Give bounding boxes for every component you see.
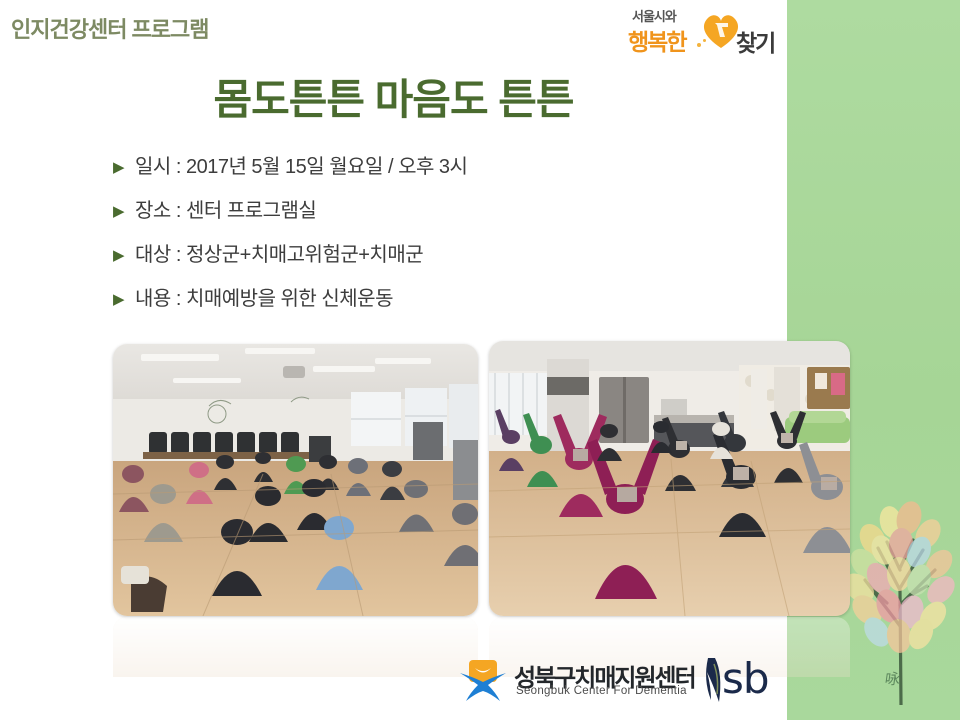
photo-left-reflection [113, 617, 478, 677]
triangle-bullet-icon: ▶ [113, 160, 135, 175]
bullet-list: ▶ 일시 : 2017년 5월 15일 월요일 / 오후 3시 ▶ 장소 : 센… [113, 155, 753, 331]
tree-illustration-icon [843, 430, 960, 705]
list-item: ▶ 대상 : 정상군+치매고위험군+치매군 [113, 243, 753, 287]
header-title: 인지건강센터 프로그램 [11, 12, 209, 44]
brand-logo-line3: 찾기 [736, 24, 774, 58]
page-title: 몸도튼튼 마음도 튼튼 [0, 66, 787, 127]
footer-logo-sb-text: sb [722, 654, 769, 703]
seongbuk-emblem-icon [460, 659, 506, 703]
list-item-label: 대상 : 정상군+치매고위험군+치매군 [135, 243, 753, 267]
seoul-happy-logo: 서울시와 행복한 찾기 [628, 6, 783, 58]
triangle-bullet-icon: ▶ [113, 248, 135, 263]
list-item: ▶ 내용 : 치매예방을 위한 신체운동 [113, 287, 753, 331]
feather-icon [702, 658, 724, 702]
photo-left [113, 344, 478, 616]
brand-dots-icon [697, 39, 711, 49]
list-item-label: 일시 : 2017년 5월 15일 월요일 / 오후 3시 [135, 155, 753, 179]
triangle-bullet-icon: ▶ [113, 204, 135, 219]
presentation-slide: 咏 인지건강센터 프로그램 서울시와 행복한 찾기 몸도튼튼 마음도 튼튼 ▶ … [0, 0, 960, 720]
triangle-bullet-icon: ▶ [113, 292, 135, 307]
list-item: ▶ 장소 : 센터 프로그램실 [113, 199, 753, 243]
footer-logo: 성북구치매지원센터 Seongbuk Center For Dementia s… [460, 656, 765, 708]
tree-signature-mark: 咏 [884, 668, 901, 689]
list-item-label: 장소 : 센터 프로그램실 [135, 199, 753, 223]
photo-right [489, 341, 850, 616]
list-item-label: 내용 : 치매예방을 위한 신체운동 [135, 287, 753, 311]
brand-logo-line2: 행복한 [628, 23, 685, 57]
list-item: ▶ 일시 : 2017년 5월 15일 월요일 / 오후 3시 [113, 155, 753, 199]
footer-logo-name-en: Seongbuk Center For Dementia [516, 685, 687, 697]
